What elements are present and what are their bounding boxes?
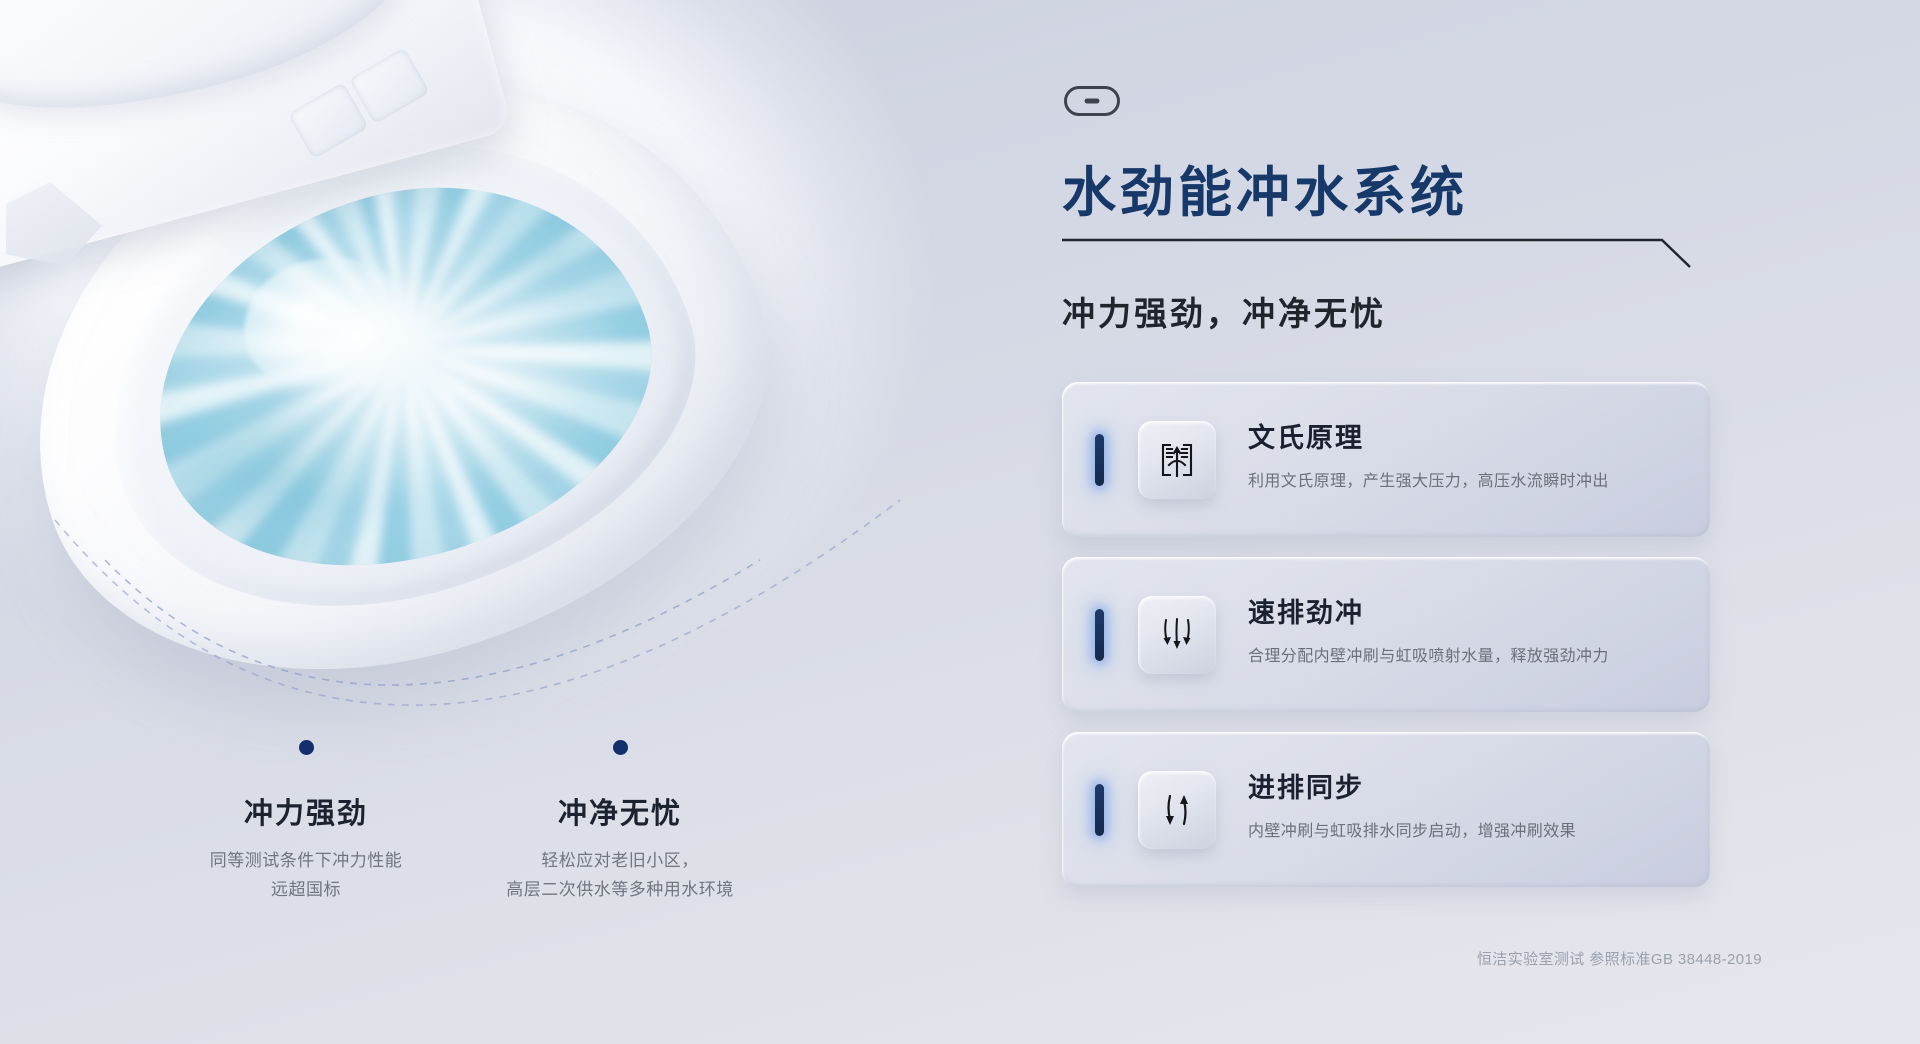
pill-dash xyxy=(1085,99,1100,104)
up-down-sync-arrow-icon xyxy=(1138,771,1216,849)
marker-dot-1 xyxy=(299,740,314,755)
card-desc: 合理分配内壁冲刷与虹吸喷射水量，释放强劲冲力 xyxy=(1248,642,1609,666)
card-desc: 利用文氏原理，产生强大压力，高压水流瞬时冲出 xyxy=(1248,467,1609,491)
card-text-block: 进排同步 内壁冲刷与虹吸排水同步启动，增强冲刷效果 xyxy=(1248,766,1576,841)
marker-dot-2 xyxy=(613,740,628,755)
info-pane: 水劲能冲水系统 冲力强劲，冲净无忧 xyxy=(1062,0,1762,1044)
venturi-tube-icon xyxy=(1138,421,1216,499)
card-accent-bar xyxy=(1095,609,1104,661)
feature-card-fast-drain[interactable]: 速排劲冲 合理分配内壁冲刷与虹吸喷射水量，释放强劲冲力 xyxy=(1062,557,1710,712)
triple-down-arrow-icon xyxy=(1138,596,1216,674)
stat-block-1: 冲力强劲 同等测试条件下冲力性能 远超国标 xyxy=(156,790,456,904)
card-accent-bar xyxy=(1095,434,1104,486)
product-photo-pane: 冲力强劲 同等测试条件下冲力性能 远超国标 冲净无忧 轻松应对老旧小区， 高层二… xyxy=(0,0,1010,1044)
stat-title: 冲力强劲 xyxy=(156,790,456,832)
flush-button-pill-icon xyxy=(1064,86,1120,116)
card-title: 进排同步 xyxy=(1248,766,1576,805)
guide-arc-outer xyxy=(55,500,900,705)
card-title: 文氏原理 xyxy=(1248,416,1609,455)
page-title: 水劲能冲水系统 xyxy=(1062,148,1468,227)
stat-desc-line1: 同等测试条件下冲力性能 xyxy=(156,846,456,875)
page-subtitle: 冲力强劲，冲净无忧 xyxy=(1062,287,1386,335)
feature-card-sync[interactable]: 进排同步 内壁冲刷与虹吸排水同步启动，增强冲刷效果 xyxy=(1062,732,1710,887)
stat-desc-line2: 远超国标 xyxy=(156,875,456,904)
stat-block-2: 冲净无忧 轻松应对老旧小区， 高层二次供水等多种用水环境 xyxy=(460,790,780,904)
feature-card-list: 文氏原理 利用文氏原理，产生强大压力，高压水流瞬时冲出 xyxy=(1062,382,1710,907)
card-title: 速排劲冲 xyxy=(1248,591,1609,630)
card-accent-bar xyxy=(1095,784,1104,836)
stat-desc-line2: 高层二次供水等多种用水环境 xyxy=(460,875,780,904)
card-desc: 内壁冲刷与虹吸排水同步启动，增强冲刷效果 xyxy=(1248,817,1576,841)
promo-page: 冲力强劲 同等测试条件下冲力性能 远超国标 冲净无忧 轻松应对老旧小区， 高层二… xyxy=(0,0,1920,1044)
feature-card-venturi[interactable]: 文氏原理 利用文氏原理，产生强大压力，高压水流瞬时冲出 xyxy=(1062,382,1710,537)
stat-title: 冲净无忧 xyxy=(460,790,780,832)
guide-arc-inner xyxy=(105,560,760,685)
stat-desc-line1: 轻松应对老旧小区， xyxy=(460,846,780,875)
footnote-disclaimer: 恒洁实验室测试 参照标准GB 38448-2019 xyxy=(1114,948,1762,969)
divider-stroke xyxy=(1062,240,1690,267)
title-divider xyxy=(1062,236,1708,270)
card-text-block: 速排劲冲 合理分配内壁冲刷与虹吸喷射水量，释放强劲冲力 xyxy=(1248,591,1609,666)
card-text-block: 文氏原理 利用文氏原理，产生强大压力，高压水流瞬时冲出 xyxy=(1248,416,1609,491)
